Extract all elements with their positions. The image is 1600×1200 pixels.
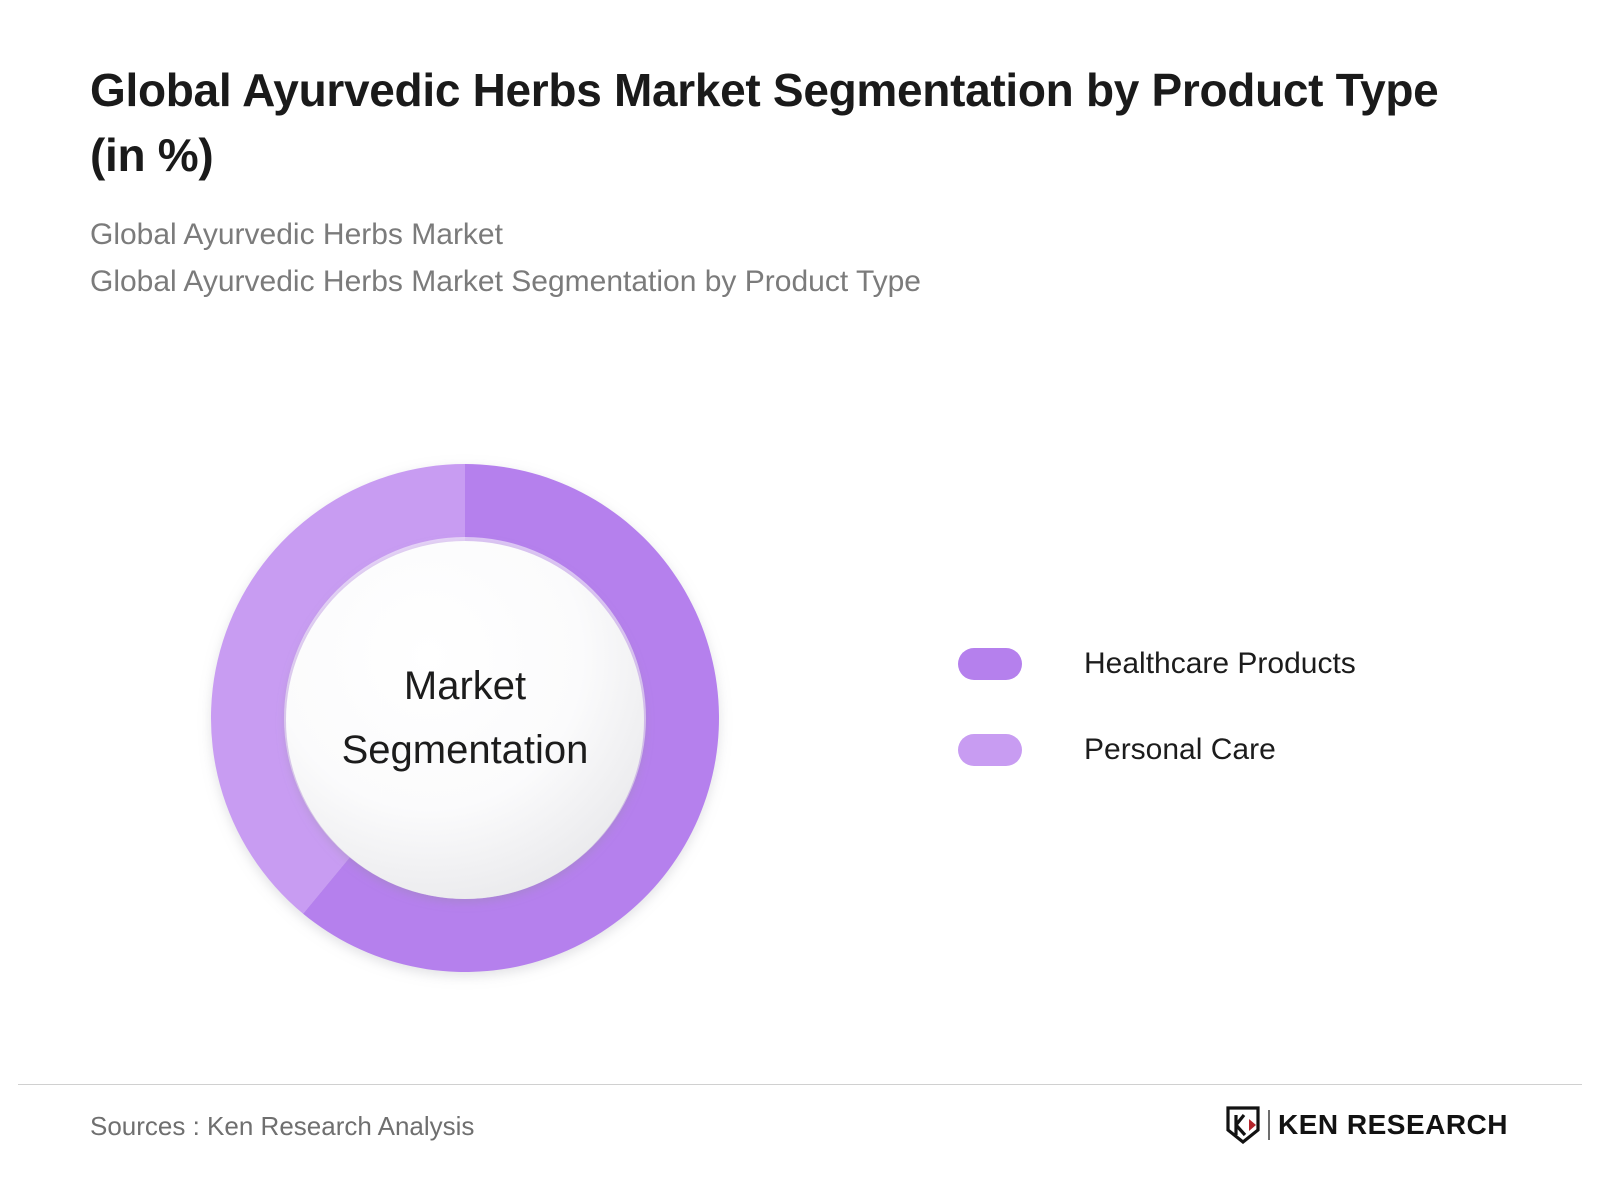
shield-logo-icon: [1226, 1106, 1260, 1144]
footer: Sources : Ken Research Analysis KEN RESE…: [0, 1085, 1600, 1200]
slide-root: Global Ayurvedic Herbs Market Segmentati…: [0, 0, 1600, 1200]
legend-item-personal-care[interactable]: Personal Care: [958, 728, 1356, 772]
donut-center-disc: [286, 541, 644, 899]
legend-swatch-icon-personal-care: [958, 734, 1022, 766]
donut-svg: [177, 430, 753, 1006]
logo-text-label: KEN RESEARCH: [1278, 1109, 1508, 1141]
page-title: Global Ayurvedic Herbs Market Segmentati…: [90, 58, 1480, 189]
donut-chart: Market Segmentation: [177, 430, 753, 1006]
ken-research-logo[interactable]: KEN RESEARCH: [1226, 1103, 1508, 1147]
subtitle-line-1: Global Ayurvedic Herbs Market: [90, 211, 1490, 258]
chart-area: Market Segmentation Healthcare Products …: [0, 330, 1600, 1070]
legend-label-personal-care: Personal Care: [1084, 733, 1276, 767]
logo-text: KEN RESEARCH: [1278, 1109, 1508, 1141]
chart-legend: Healthcare Products Personal Care: [958, 642, 1356, 814]
subtitle-block: Global Ayurvedic Herbs Market Global Ayu…: [90, 211, 1490, 306]
footer-source-text: Sources : Ken Research Analysis: [90, 1111, 474, 1142]
legend-item-healthcare-products[interactable]: Healthcare Products: [958, 642, 1356, 686]
header: Global Ayurvedic Herbs Market Segmentati…: [90, 58, 1490, 305]
legend-swatch-icon-healthcare-products: [958, 648, 1022, 680]
legend-label-healthcare-products: Healthcare Products: [1084, 647, 1356, 681]
logo-divider-icon: [1268, 1110, 1270, 1140]
subtitle-line-2: Global Ayurvedic Herbs Market Segmentati…: [90, 258, 1490, 305]
